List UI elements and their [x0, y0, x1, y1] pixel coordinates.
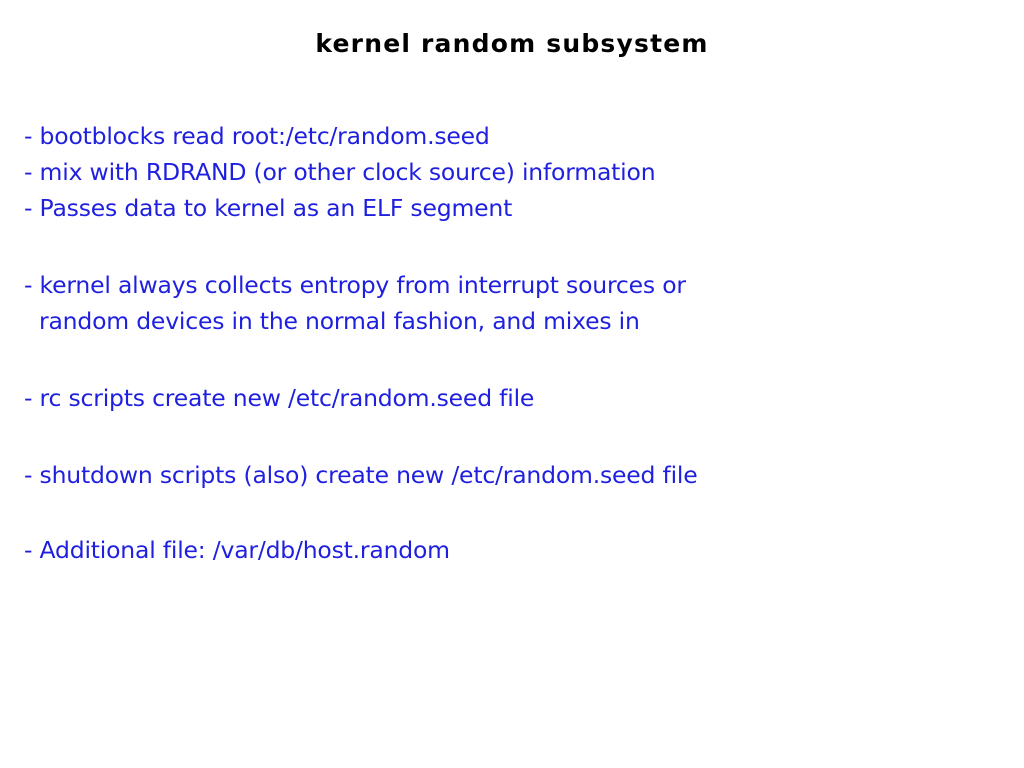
bullet-line: - kernel always collects entropy from in…: [24, 267, 984, 303]
bullet-line: - rc scripts create new /etc/random.seed…: [24, 380, 984, 416]
bullet-line: - Passes data to kernel as an ELF segmen…: [24, 190, 984, 226]
spacer: [24, 493, 984, 532]
bullet-line-continuation: random devices in the normal fashion, an…: [24, 303, 984, 339]
spacer: [24, 226, 984, 267]
spacer: [24, 416, 984, 457]
page-title: kernel random subsystem: [0, 29, 1024, 58]
spacer: [24, 339, 984, 380]
bullet-line: - shutdown scripts (also) create new /et…: [24, 457, 984, 493]
bullet-line: - Additional file: /var/db/host.random: [24, 532, 984, 568]
bullet-line: - bootblocks read root:/etc/random.seed: [24, 118, 984, 154]
slide-canvas: kernel random subsystem - bootblocks rea…: [0, 0, 1024, 768]
bullet-line: - mix with RDRAND (or other clock source…: [24, 154, 984, 190]
bullet-group-shutdown-scripts: - shutdown scripts (also) create new /et…: [24, 457, 984, 493]
bullet-group-boot-sequence: - bootblocks read root:/etc/random.seed …: [24, 118, 984, 226]
bullet-group-additional-file: - Additional file: /var/db/host.random: [24, 532, 984, 568]
bullet-group-rc-scripts: - rc scripts create new /etc/random.seed…: [24, 380, 984, 416]
bullet-group-runtime-entropy: - kernel always collects entropy from in…: [24, 267, 984, 339]
slide-body: - bootblocks read root:/etc/random.seed …: [24, 118, 984, 568]
